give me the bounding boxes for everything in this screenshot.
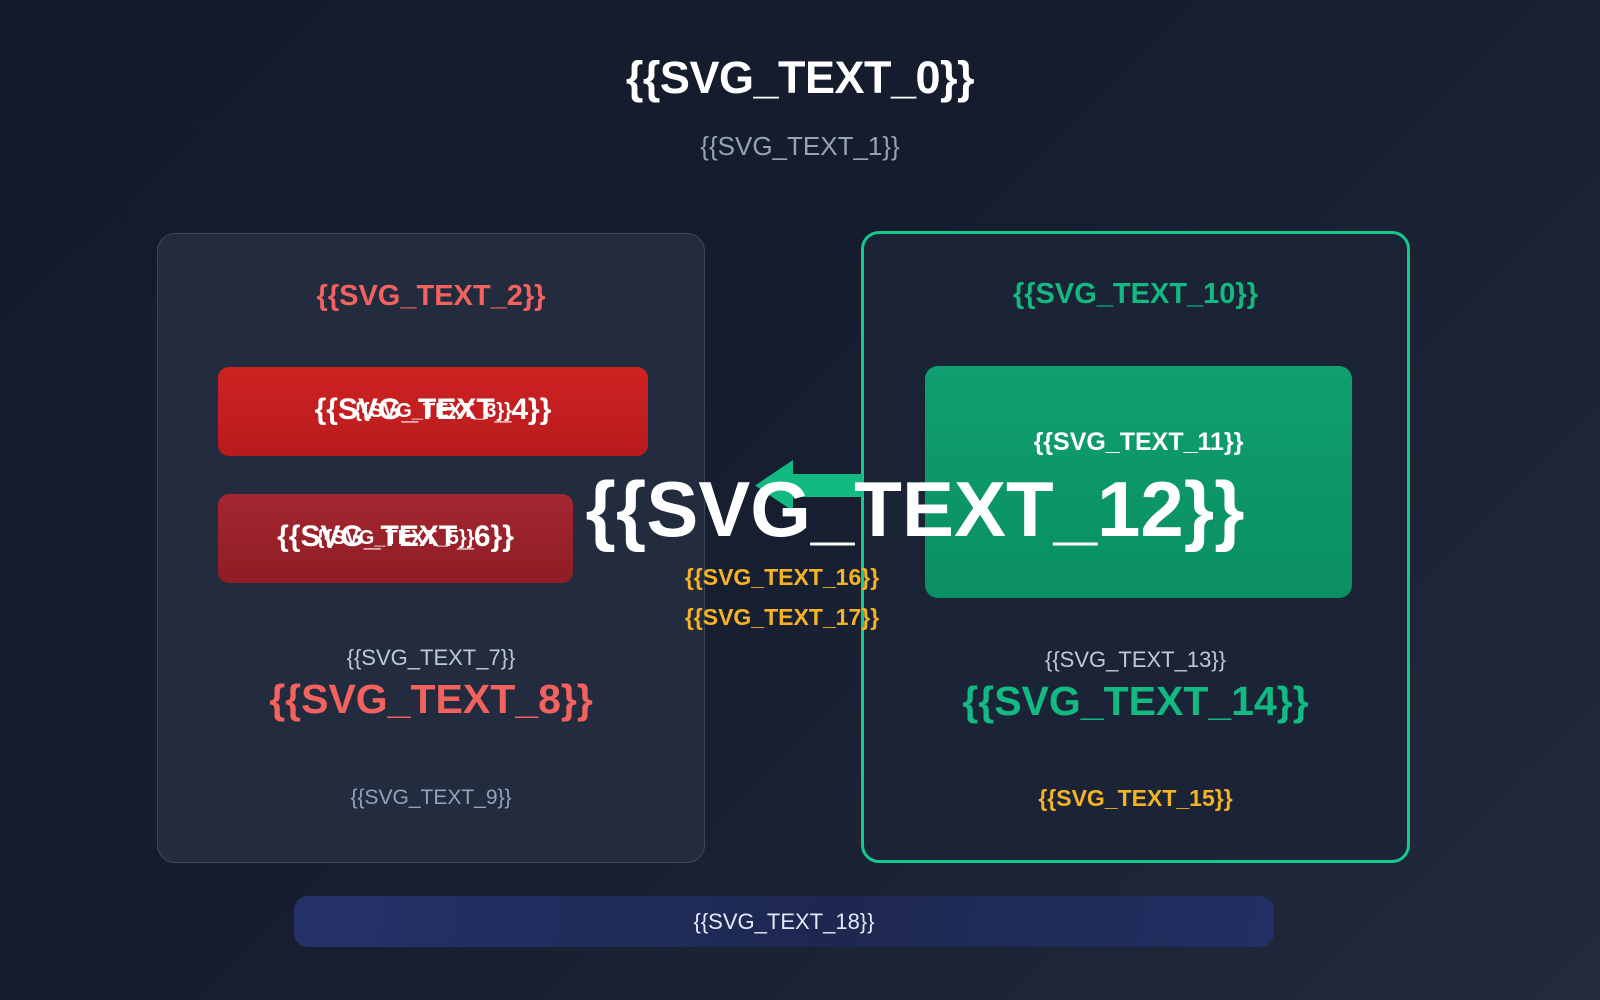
left-panel-bar-1: {{SVG_TEXT_4}} {{SVG_TEXT_3}}	[218, 367, 648, 456]
left-arrow-icon	[755, 458, 863, 513]
left-stat-note: {{SVG_TEXT_9}}	[158, 786, 704, 810]
page-subtitle: {{SVG_TEXT_1}}	[0, 131, 1600, 162]
middle-note-1: {{SVG_TEXT_16}}	[632, 564, 932, 591]
page-title: {{SVG_TEXT_0}}	[0, 52, 1600, 104]
footer-bar[interactable]: {{SVG_TEXT_18}}	[294, 896, 1274, 947]
left-panel-bar-2: {{SVG_TEXT_6}} {{SVG_TEXT_5}}	[218, 494, 573, 583]
right-panel-heading: {{SVG_TEXT_10}}	[864, 278, 1407, 311]
right-panel-highlight-box: {{SVG_TEXT_11}}	[925, 366, 1352, 598]
middle-note-2: {{SVG_TEXT_17}}	[632, 604, 932, 631]
right-panel: {{SVG_TEXT_10}} {{SVG_TEXT_11}} {{SVG_TE…	[861, 231, 1410, 863]
left-stat-caption: {{SVG_TEXT_7}}	[158, 645, 704, 671]
right-stat-note: {{SVG_TEXT_15}}	[864, 785, 1407, 812]
left-panel-heading: {{SVG_TEXT_2}}	[158, 280, 704, 313]
left-stat-value: {{SVG_TEXT_8}}	[158, 676, 704, 723]
left-panel: {{SVG_TEXT_2}} {{SVG_TEXT_4}} {{SVG_TEXT…	[157, 233, 705, 863]
bar-1-label-secondary: {{SVG_TEXT_3}}	[218, 400, 648, 423]
highlight-box-label: {{SVG_TEXT_11}}	[925, 428, 1352, 457]
diagram-canvas: {{SVG_TEXT_0}} {{SVG_TEXT_1}} {{SVG_TEXT…	[0, 0, 1600, 1000]
right-stat-value: {{SVG_TEXT_14}}	[864, 678, 1407, 725]
footer-bar-label: {{SVG_TEXT_18}}	[693, 909, 874, 935]
bar-2-label-secondary: {{SVG_TEXT_5}}	[218, 527, 573, 550]
right-stat-caption: {{SVG_TEXT_13}}	[864, 647, 1407, 673]
